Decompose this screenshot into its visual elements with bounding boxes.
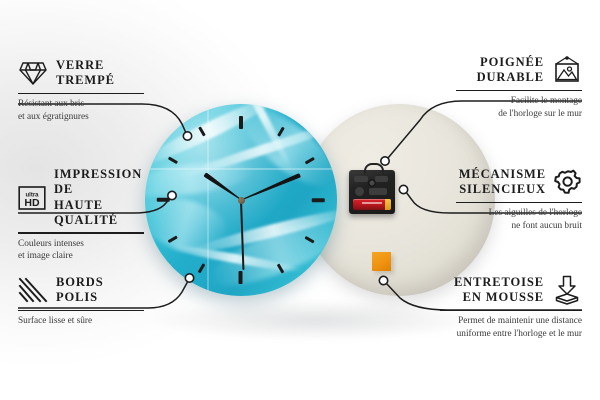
clock-tick (157, 198, 170, 202)
feature-subtitle-line2: uniforme entre l'horloge et le mur (440, 328, 582, 341)
feature-rule (18, 310, 144, 312)
feature-entretoise-en-mousse: ENTRETOISE EN MOUSSE Permet de maintenir… (440, 275, 582, 341)
ultra-hd-icon: ultra HD (18, 184, 46, 212)
feature-subtitle-line2: et image claire (18, 250, 144, 263)
floor-shadow (150, 300, 480, 340)
foam-spacer (372, 252, 391, 271)
feature-title: POIGNÉE DURABLE (456, 55, 544, 86)
feature-title-line1: MÉCANISME (456, 167, 546, 182)
feature-impression-haute-qualite: ultra HD IMPRESSION DE HAUTE QUALITÉ Cou… (18, 167, 144, 263)
feature-header: BORDS POLIS (18, 275, 144, 306)
clock-center-cap (238, 197, 245, 204)
feature-header: MÉCANISME SILENCIEUX (456, 167, 582, 198)
feature-subtitle-line1: Résistant aux bris (18, 98, 144, 111)
clock-tick (198, 263, 205, 273)
feature-subtitle-line1: Les aiguilles de l'horloge (456, 207, 582, 220)
feature-subtitle: Permet de maintenir une distance uniform… (440, 315, 582, 341)
feature-subtitle-line2: de l'horloge sur le mur (456, 108, 582, 121)
feature-title: VERRE TREMPÉ (56, 58, 115, 89)
mechanism-hanger-icon (364, 163, 384, 174)
clock-tick (168, 157, 178, 164)
mechanism-detail (354, 176, 368, 182)
feature-title-line2: TREMPÉ (56, 73, 115, 88)
mechanism-detail (375, 176, 388, 182)
feature-rule (18, 232, 144, 234)
feather-wisp (145, 155, 256, 203)
feature-title-line2: DURABLE (456, 70, 544, 85)
feature-header: VERRE TREMPÉ (18, 58, 144, 89)
gear-icon (554, 168, 582, 196)
feature-title-line2: SILENCIEUX (456, 182, 546, 197)
clock-tick (239, 116, 243, 129)
feature-subtitle-line1: Couleurs intenses (18, 238, 144, 251)
framed-picture-icon (552, 56, 582, 84)
feature-subtitle-line2: et aux égratignures (18, 111, 144, 124)
feature-rule (456, 90, 582, 92)
arrow-onto-pad-icon (552, 275, 582, 305)
feature-rule (440, 310, 582, 312)
feature-poignee-durable: POIGNÉE DURABLE Facilite le montage de l… (456, 55, 582, 121)
feature-rule (456, 202, 582, 204)
feature-subtitle-line1: Permet de maintenir une distance (440, 315, 582, 328)
feature-title: IMPRESSION DE HAUTE QUALITÉ (54, 167, 144, 228)
clock-tick (312, 198, 325, 202)
feature-subtitle-line1: Facilite le montage (456, 95, 582, 108)
feature-subtitle-line2: ne font aucun bruit (456, 220, 582, 233)
feature-bords-polis: BORDS POLIS Surface lisse et sûre (18, 275, 144, 328)
feature-title: BORDS POLIS (56, 275, 104, 306)
svg-text:HD: HD (24, 197, 40, 209)
feature-title-line2: EN MOUSSE (440, 290, 544, 305)
feature-mecanisme-silencieux: MÉCANISME SILENCIEUX Les aiguilles de l'… (456, 167, 582, 233)
feature-subtitle: Facilite le montage de l'horloge sur le … (456, 95, 582, 121)
feature-subtitle: Surface lisse et sûre (18, 315, 144, 328)
mechanism-detail (355, 187, 364, 196)
clock-front-face (145, 104, 337, 296)
feature-title-line1: POIGNÉE (456, 55, 544, 70)
feature-title-line2: HAUTE QUALITÉ (54, 198, 144, 229)
feature-title-line1: BORDS (56, 275, 104, 290)
diamond-icon (18, 60, 48, 86)
feature-subtitle: Les aiguilles de l'horloge ne font aucun… (456, 207, 582, 233)
feature-rule (18, 93, 144, 95)
feature-title-line1: VERRE (56, 58, 115, 73)
feature-title-line1: IMPRESSION DE (54, 167, 144, 198)
battery (353, 199, 391, 210)
feature-subtitle: Résistant aux bris et aux égratignures (18, 98, 144, 124)
feature-title: MÉCANISME SILENCIEUX (456, 167, 546, 198)
clock-tick (239, 271, 243, 284)
battery-label (362, 202, 382, 204)
feature-subtitle: Couleurs intenses et image claire (18, 238, 144, 264)
feature-header: ENTRETOISE EN MOUSSE (440, 275, 582, 306)
clock-minute-hand (240, 173, 301, 202)
feature-subtitle-line1: Surface lisse et sûre (18, 315, 144, 328)
feature-title: ENTRETOISE EN MOUSSE (440, 275, 544, 306)
feature-verre-trempe: VERRE TREMPÉ Résistant aux bris et aux é… (18, 58, 144, 124)
feature-header: POIGNÉE DURABLE (456, 55, 582, 86)
feature-title-line1: ENTRETOISE (440, 275, 544, 290)
feature-header: ultra HD IMPRESSION DE HAUTE QUALITÉ (18, 167, 144, 228)
feature-title-line2: POLIS (56, 290, 104, 305)
battery-terminal (385, 199, 391, 210)
clock-mechanism (349, 170, 395, 214)
mechanism-detail (369, 188, 387, 195)
infographic-canvas: VERRE TREMPÉ Résistant aux bris et aux é… (0, 0, 600, 400)
diagonal-lines-icon (18, 277, 48, 303)
